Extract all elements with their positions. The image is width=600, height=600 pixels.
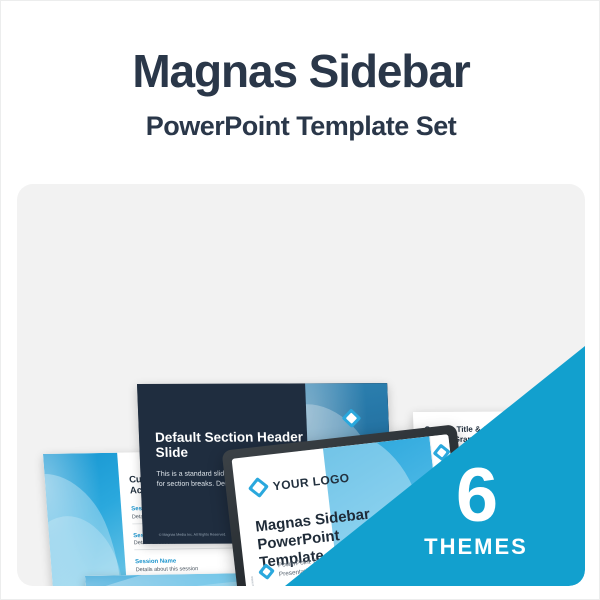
- diamond-logo-icon: [248, 477, 269, 498]
- diamond-bullet-icon: [258, 563, 275, 580]
- left-accent-graphic: [43, 453, 128, 586]
- laptop-side-text: www.magnasmedia.com: [250, 576, 258, 586]
- promo-graphic: Magnas Sidebar PowerPoint Template Set C…: [0, 0, 600, 600]
- page-title: Magnas Sidebar: [1, 1, 600, 97]
- header: Magnas Sidebar PowerPoint Template Set: [1, 1, 600, 142]
- showcase-panel: Custom Title & Content Left Accent Graph…: [17, 184, 585, 586]
- page-subtitle: PowerPoint Template Set: [1, 97, 600, 142]
